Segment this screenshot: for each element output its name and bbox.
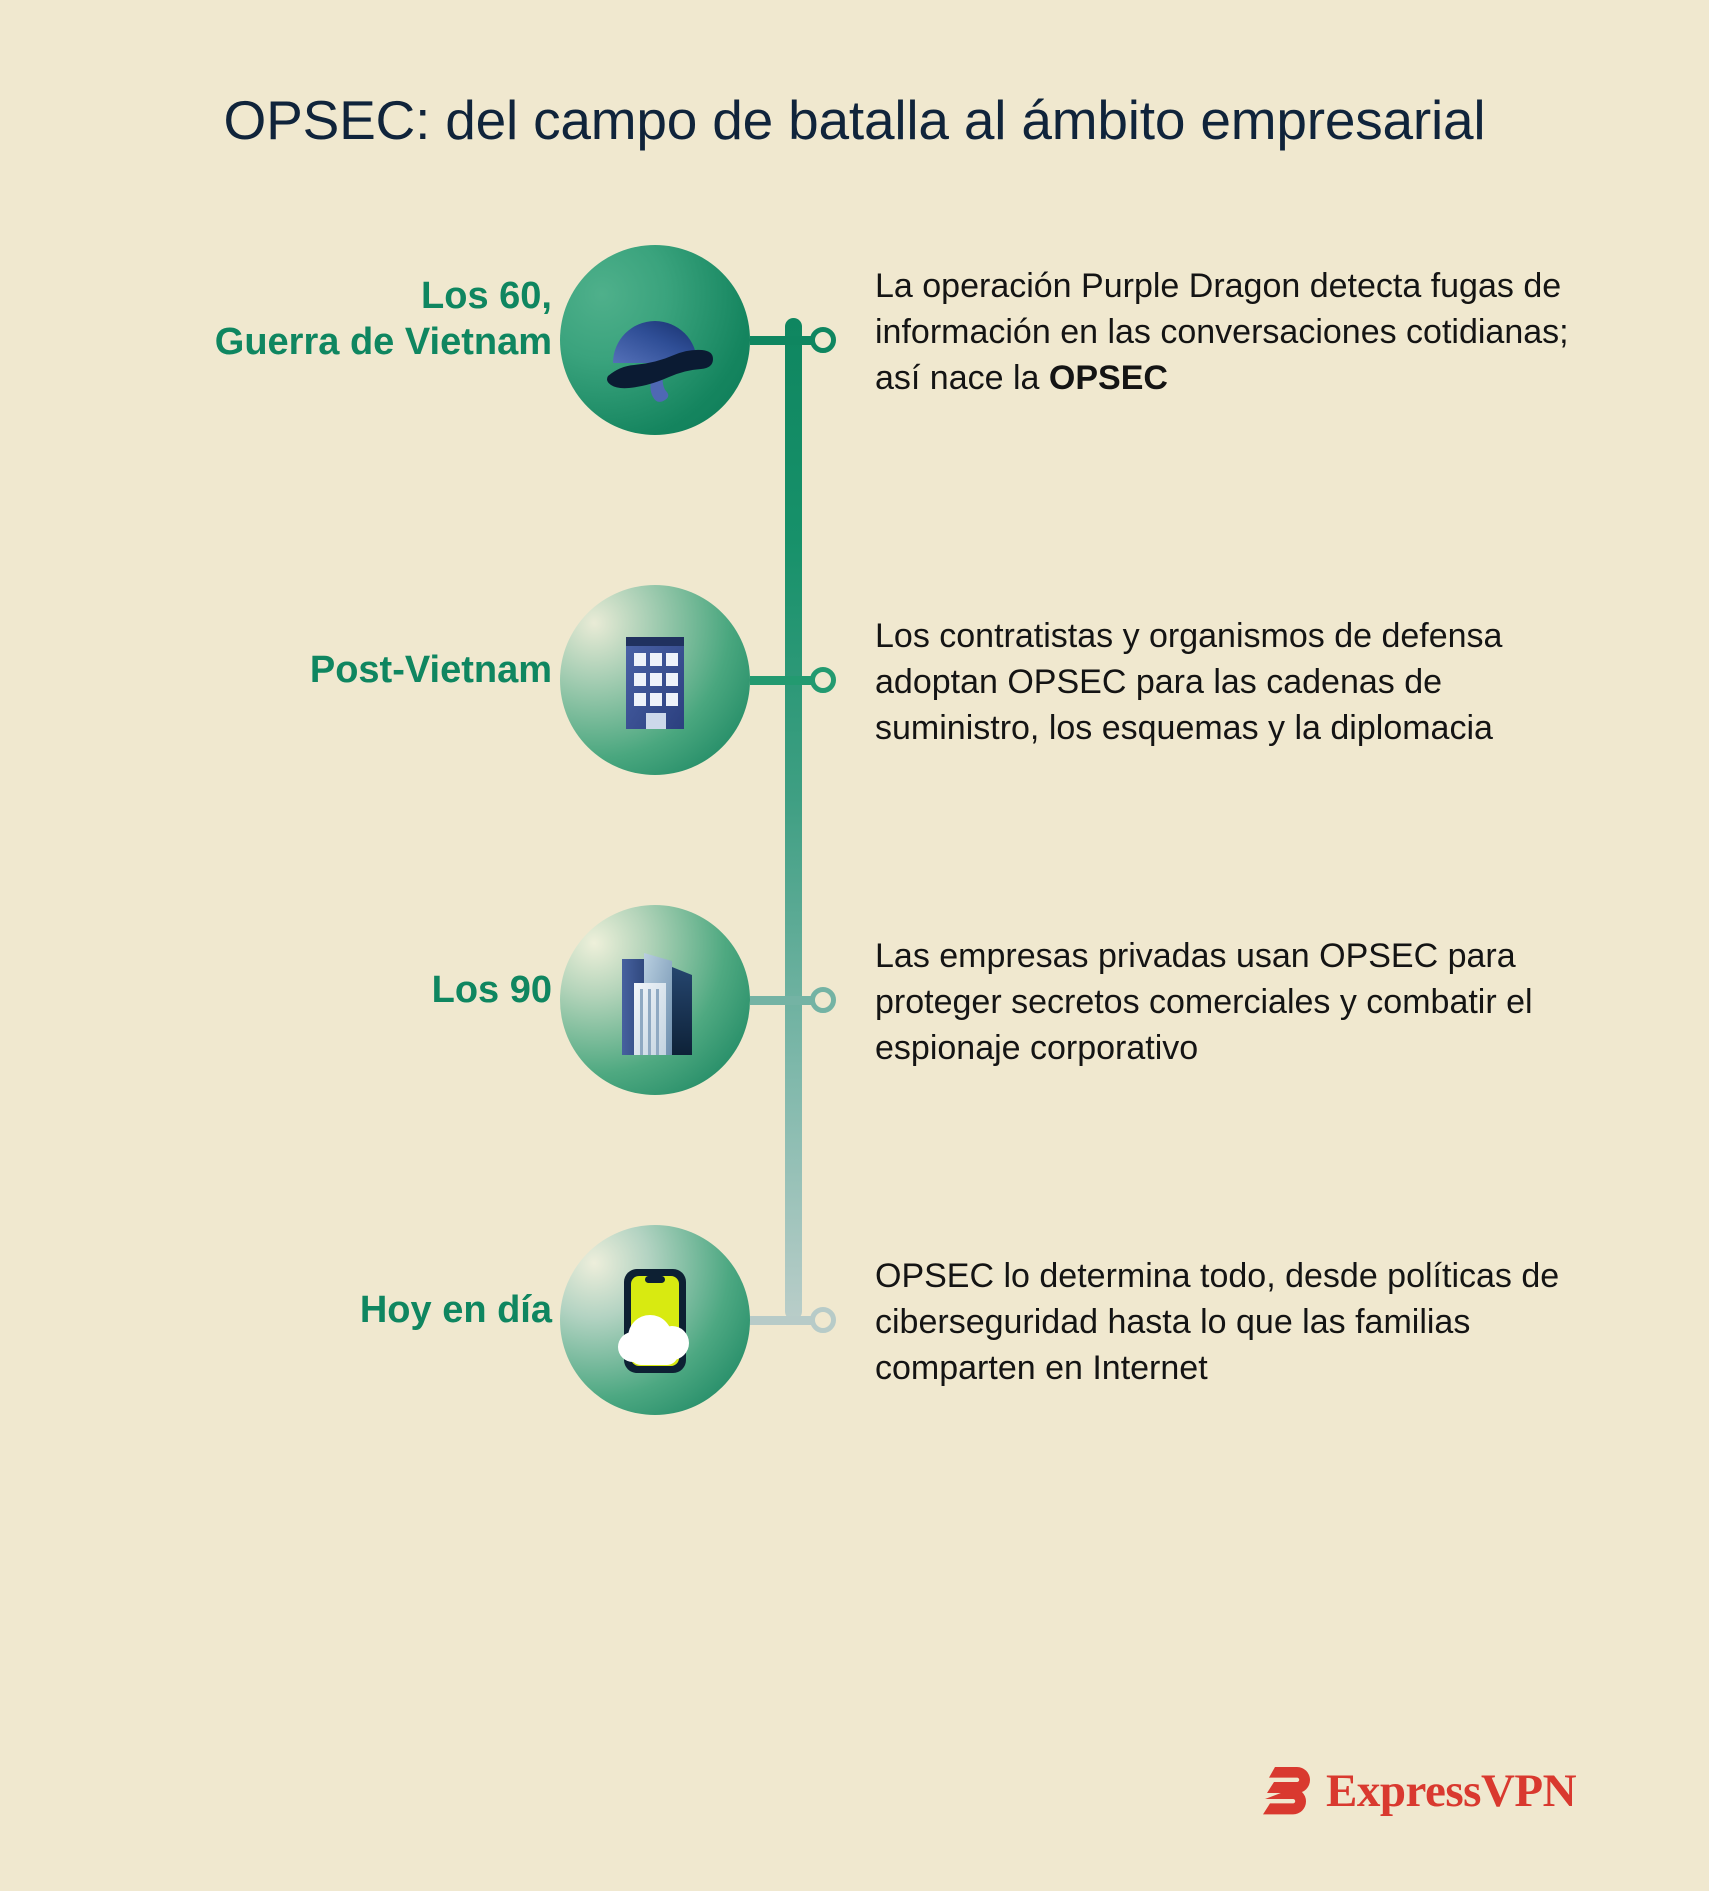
connector-bar-4 [750,1316,812,1325]
description-3: Las empresas privadas usan OPSEC para pr… [875,933,1575,1072]
expressvpn-mark-icon [1255,1763,1313,1819]
icon-disc-2 [560,585,750,775]
description-2: Los contratistas y organismos de defensa… [875,613,1575,752]
timeline-node-4 [750,1307,836,1333]
era-label-1: Los 60, Guerra de Vietnam [32,273,552,366]
connector-bar-3 [750,996,812,1005]
timeline-row-1: Los 60, Guerra de Vietnam La operación P… [0,245,1709,455]
icon-disc-1 [560,245,750,435]
timeline-spine [785,318,802,1320]
description-1: La operación Purple Dragon detecta fugas… [875,263,1575,402]
connector-bar-2 [750,676,812,685]
connector-node-3 [810,987,836,1013]
era-label-4-line1: Hoy en día [32,1287,552,1333]
connector-bar-1 [750,336,812,345]
era-label-1-line2: Guerra de Vietnam [32,319,552,365]
timeline-row-3: Los 90 [0,905,1709,1115]
expressvpn-wordmark: ExpressVPN [1326,1764,1576,1818]
icon-disc-3 [560,905,750,1095]
era-label-2-line1: Post-Vietnam [32,647,552,693]
timeline-node-3 [750,987,836,1013]
expressvpn-logo: ExpressVPN [1255,1763,1576,1819]
era-label-2: Post-Vietnam [32,647,552,693]
skyscrapers-icon [560,905,750,1095]
description-4: OPSEC lo determina todo, desde políticas… [875,1253,1575,1392]
phone-cloud-icon [560,1225,750,1415]
office-building-icon [560,585,750,775]
timeline-row-4: Hoy en día OPSEC lo determina todo, desd… [0,1225,1709,1435]
era-label-1-line1: Los 60, [32,273,552,319]
helmet-icon [560,245,750,435]
description-1-text: La operación Purple Dragon detecta fugas… [875,267,1569,397]
description-1-bold: OPSEC [1049,359,1168,397]
era-label-3: Los 90 [32,967,552,1013]
page-title: OPSEC: del campo de batalla al ámbito em… [0,88,1709,152]
connector-node-2 [810,667,836,693]
timeline-row-2: Post-Vietnam Los contr [0,585,1709,795]
era-label-4: Hoy en día [32,1287,552,1333]
connector-node-1 [810,327,836,353]
timeline-node-1 [750,327,836,353]
icon-disc-4 [560,1225,750,1415]
timeline-node-2 [750,667,836,693]
connector-node-4 [810,1307,836,1333]
era-label-3-line1: Los 90 [32,967,552,1013]
